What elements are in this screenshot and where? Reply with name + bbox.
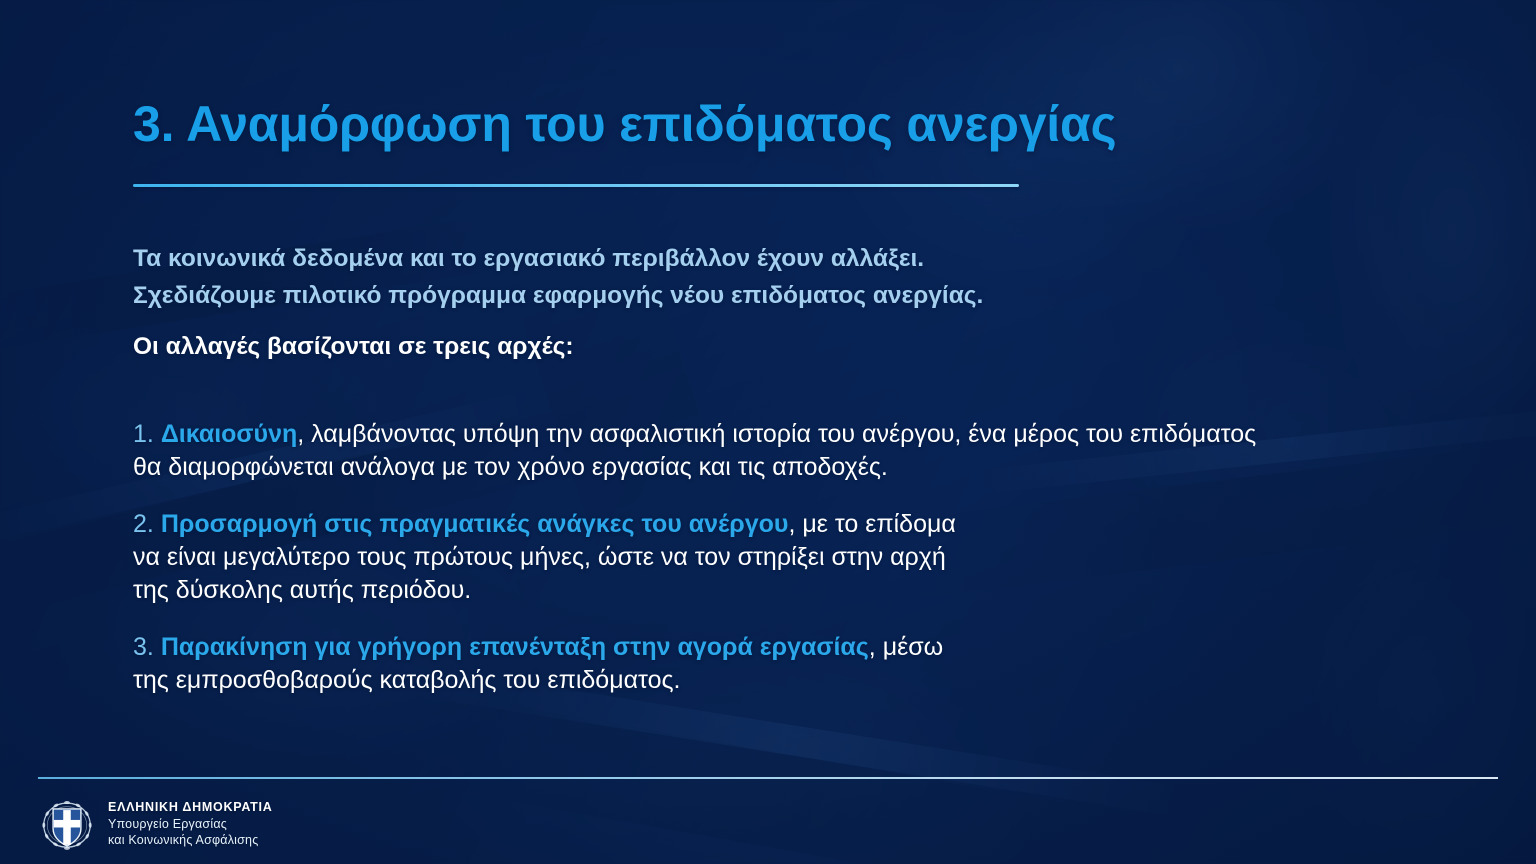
principle-number: 2. <box>133 510 154 538</box>
subtitle-line-1: Τα κοινωνικά δεδομένα και το εργασιακό π… <box>133 240 983 277</box>
principle-keyword: Προσαρμογή στις πραγματικές ανάγκες του … <box>161 510 789 538</box>
subtitle-line-2: Σχεδιάζουμε πιλοτικό πρόγραμμα εφαρμογής… <box>133 277 983 314</box>
principle-item-2: 2. Προσαρμογή στις πραγματικές ανάγκες τ… <box>133 508 1463 607</box>
title-divider <box>133 184 1019 187</box>
slide-content: 3. Αναμόρφωση του επιδόματος ανεργίας Τα… <box>0 0 1536 864</box>
principle-number: 1. <box>133 420 154 448</box>
footer-line-2: Υπουργείο Εργασίας <box>108 816 273 833</box>
greek-republic-coat-of-arms-icon <box>38 795 96 853</box>
principle-number: 3. <box>133 633 154 661</box>
footer-line-1: ΕΛΛΗΝΙΚΗ ΔΗΜΟΚΡΑΤΙΑ <box>108 799 273 816</box>
presentation-slide: 3. Αναμόρφωση του επιδόματος ανεργίας Τα… <box>0 0 1536 864</box>
slide-subtitle: Τα κοινωνικά δεδομένα και το εργασιακό π… <box>133 240 983 314</box>
footer-text-block: ΕΛΛΗΝΙΚΗ ΔΗΜΟΚΡΑΤΙΑ Υπουργείο Εργασίας κ… <box>108 799 273 849</box>
principle-keyword: Παρακίνηση για γρήγορη επανένταξη στην α… <box>161 633 869 661</box>
principle-text: , με το επίδομα <box>788 510 955 538</box>
principle-continuation: να είναι μεγαλύτερο τους πρώτους μήνες, … <box>133 541 1463 574</box>
footer-line-3: και Κοινωνικής Ασφάλισης <box>108 832 273 849</box>
principle-continuation: της εμπροσθοβαρούς καταβολής του επιδόμα… <box>133 664 1463 697</box>
principle-keyword: Δικαιοσύνη <box>161 420 297 448</box>
slide-title: 3. Αναμόρφωση του επιδόματος ανεργίας <box>133 95 1116 153</box>
principle-item-3: 3. Παρακίνηση για γρήγορη επανένταξη στη… <box>133 631 1463 697</box>
principles-list: 1. Δικαιοσύνη, λαμβάνοντας υπόψη την ασφ… <box>133 418 1463 697</box>
principle-continuation: θα διαμορφώνεται ανάλογα με τον χρόνο ερ… <box>133 451 1463 484</box>
principle-item-1: 1. Δικαιοσύνη, λαμβάνοντας υπόψη την ασφ… <box>133 418 1463 484</box>
principle-text: , μέσω <box>869 633 943 661</box>
footer-divider <box>38 777 1498 779</box>
principle-text: , λαμβάνοντας υπόψη την ασφαλιστική ιστο… <box>297 420 1256 448</box>
lead-statement: Οι αλλαγές βασίζονται σε τρεις αρχές: <box>133 333 574 361</box>
principle-continuation-2: της δύσκολης αυτής περιόδου. <box>133 574 1463 607</box>
footer-branding: ΕΛΛΗΝΙΚΗ ΔΗΜΟΚΡΑΤΙΑ Υπουργείο Εργασίας κ… <box>38 795 273 853</box>
